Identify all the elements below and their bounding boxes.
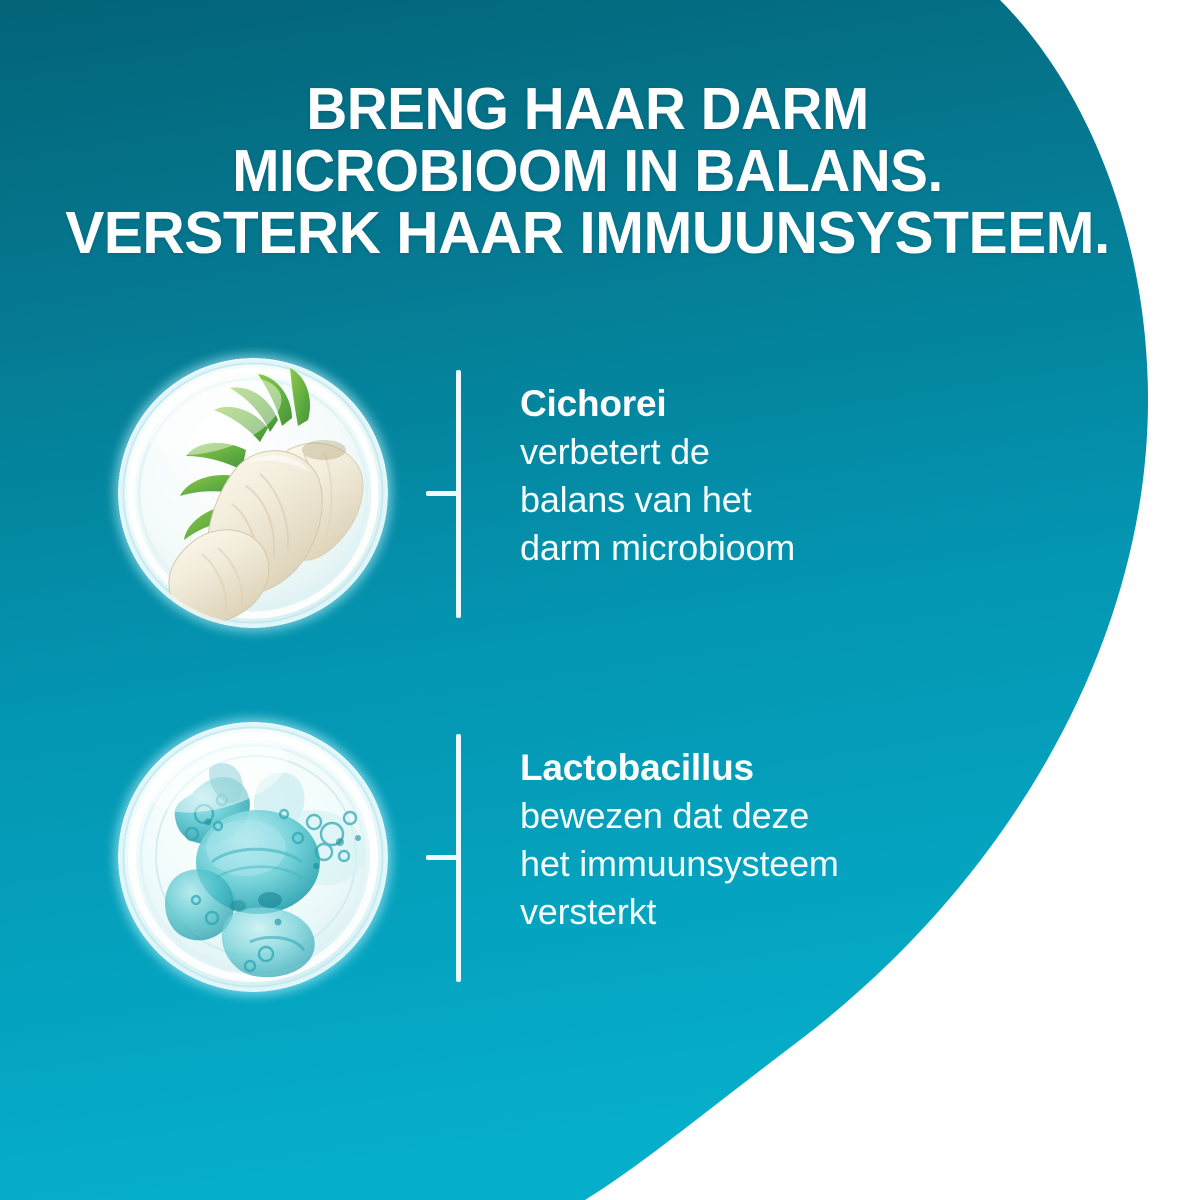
desc-line: balans van het bbox=[520, 476, 1040, 524]
desc-line: het immuunsysteem bbox=[520, 840, 1040, 888]
lactobacillus-gel-petri-dish-icon bbox=[118, 722, 388, 992]
feature-row-lactobacillus: Lactobacillus bewezen dat deze het immuu… bbox=[118, 722, 1040, 992]
desc-line: bewezen dat deze bbox=[520, 792, 1040, 840]
headline-line-1: BRENG HAAR DARM bbox=[24, 78, 1152, 140]
feature-row-cichorei: Cichorei verbetert de balans van het dar… bbox=[118, 358, 1040, 628]
page-title: BRENG HAAR DARM MICROBIOOM IN BALANS. VE… bbox=[24, 78, 1152, 264]
chicory-root-petri-dish-icon bbox=[118, 358, 388, 628]
desc-line: verbetert de bbox=[520, 428, 1040, 476]
headline-line-2: MICROBIOOM IN BALANS. bbox=[24, 140, 1152, 202]
divider-horizontal-tick bbox=[426, 855, 459, 860]
feature-divider-2 bbox=[418, 722, 488, 992]
feature-text-cichorei: Cichorei verbetert de balans van het dar… bbox=[520, 358, 1040, 572]
feature-divider-1 bbox=[418, 358, 488, 628]
ingredient-name: Cichorei bbox=[520, 380, 1040, 428]
feature-text-lactobacillus: Lactobacillus bewezen dat deze het immuu… bbox=[520, 722, 1040, 936]
headline-line-3: VERSTERK HAAR IMMUUNSYSTEEM. bbox=[4, 202, 1171, 264]
desc-line: darm microbioom bbox=[520, 524, 1040, 572]
promo-banner: BRENG HAAR DARM MICROBIOOM IN BALANS. VE… bbox=[0, 0, 1200, 1200]
desc-line: versterkt bbox=[520, 888, 1040, 936]
ingredient-description: bewezen dat deze het immuunsysteem verst… bbox=[520, 792, 1040, 936]
divider-horizontal-tick bbox=[426, 491, 459, 496]
ingredient-name: Lactobacillus bbox=[520, 744, 1040, 792]
ingredient-description: verbetert de balans van het darm microbi… bbox=[520, 428, 1040, 572]
